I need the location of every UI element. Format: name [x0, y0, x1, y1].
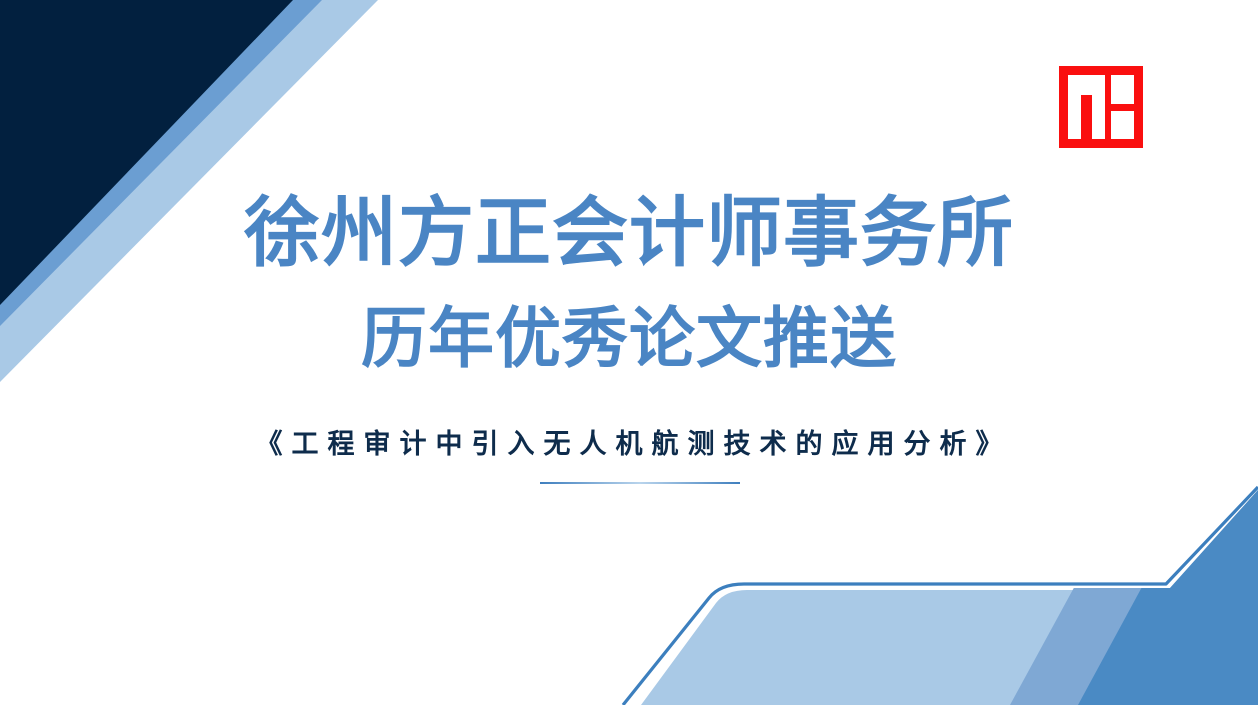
bottom-right-outline-stroke	[623, 487, 1258, 705]
page-subtitle: 《工程审计中引入无人机航测技术的应用分析》	[0, 424, 1258, 464]
page-title-line-1: 徐州方正会计师事务所	[0, 186, 1258, 282]
bottom-right-deep-band	[1078, 373, 1258, 705]
fangzheng-logo-icon	[1059, 66, 1143, 148]
title-slide: 徐州方正会计师事务所 历年优秀论文推送 《工程审计中引入无人机航测技术的应用分析…	[0, 0, 1258, 705]
logo-center-stem	[1081, 95, 1092, 139]
logo-right-upper-block	[1111, 75, 1134, 104]
bottom-right-pale-band	[1130, 470, 1258, 705]
bottom-right-banner-fill	[641, 492, 1258, 705]
page-title-line-2: 历年优秀论文推送	[0, 294, 1258, 382]
title-divider	[540, 482, 740, 484]
logo-right-lower-block	[1111, 111, 1134, 139]
